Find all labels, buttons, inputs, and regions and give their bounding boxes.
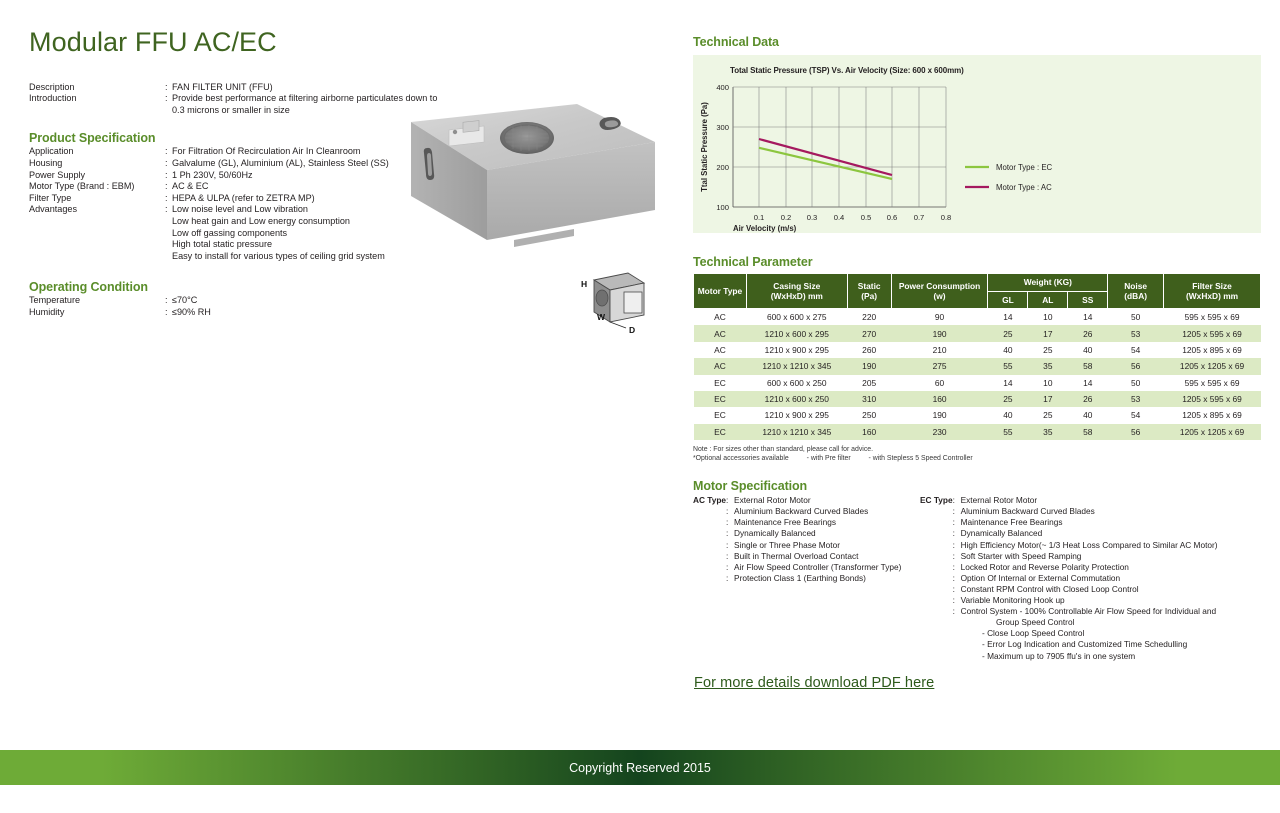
cell-casing: 600 x 600 x 250 [746,375,847,391]
mcolon: : [726,506,734,517]
ec-item: Constant RPM Control with Closed Loop Co… [961,584,1261,595]
cell-power: 190 [891,407,988,423]
th-static: Static (Pa) [847,274,891,309]
motor-spec-row: EC Type : Dynamically Balanced [920,528,1261,539]
cell-motor: EC [694,375,747,391]
cell-al: 25 [1028,342,1068,358]
spec-value: Low noise level and Low vibration [172,204,389,216]
spec-label: Application [29,146,165,158]
spec-colon: : [165,204,172,216]
cell-filter: 1205 x 895 x 69 [1164,407,1261,423]
ac-item: Protection Class 1 (Earthing Bonds) [734,573,933,584]
cell-motor: AC [694,342,747,358]
spec-label-empty [29,239,165,251]
cell-static: 205 [847,375,891,391]
cell-filter: 595 x 595 x 69 [1164,375,1261,391]
cell-gl: 55 [988,358,1028,374]
spec-colon: : [165,158,172,170]
cell-power: 160 [891,391,988,407]
motor-spec-row: AC Type : Dynamically Balanced [693,528,933,539]
cell-al: 10 [1028,309,1068,326]
chart-y-axis-label: Ttal Static Pressure (Pa) [700,102,709,192]
mcolon: : [726,551,734,562]
right-column: Technical Data Total Static Pressure (TS… [693,35,1261,670]
motor-specification-heading: Motor Specification [693,479,1261,493]
mcolon: : [953,573,961,584]
spec-label-empty [29,216,165,228]
spec-row: Application : For Filtration Of Recircul… [29,146,389,158]
chart-gridlines [733,87,946,207]
dimension-diagram: H W D [576,270,658,336]
cell-noise: 54 [1108,342,1164,358]
motor-spec-row: EC Type : Aluminium Backward Curved Blad… [920,506,1261,517]
spec-row: Power Supply : 1 Ph 230V, 50/60Hz [29,170,389,182]
ec-item: High Efficiency Motor(~ 1/3 Heat Loss Co… [961,540,1261,551]
spec-row: Advantages : Low noise level and Low vib… [29,204,389,216]
spec-colon-empty [165,105,172,117]
motor-spec-row: AC Type : Single or Three Phase Motor [693,540,933,551]
motor-spec-subrow: - Error Log Indication and Customized Ti… [920,639,1261,650]
table-row: AC 600 x 600 x 275 220 90 14 10 14 50 59… [694,309,1261,326]
th-static-line2: (Pa) [861,291,877,301]
cell-casing: 600 x 600 x 275 [746,309,847,326]
series-line-ec [759,148,892,179]
ec-item: Locked Rotor and Reverse Polarity Protec… [961,562,1261,573]
spec-colon: : [165,307,172,319]
cell-power: 60 [891,375,988,391]
spec-value: 1 Ph 230V, 50/60Hz [172,170,389,182]
svg-text:400: 400 [716,83,729,92]
spec-row: Housing : Galvalume (GL), Aluminium (AL)… [29,158,389,170]
spec-colon: : [165,146,172,158]
svg-text:0.7: 0.7 [914,213,925,222]
motor-spec-ec-column: EC Type : External Rotor Motor EC Type :… [920,495,1261,661]
mcolon: : [953,551,961,562]
cell-static: 190 [847,358,891,374]
table-row: EC 1210 x 600 x 250 310 160 25 17 26 53 … [694,391,1261,407]
mcolon: : [726,573,734,584]
ec-sub-item: Group Speed Control [920,617,1261,628]
note-line-1: Note : For sizes other than standard, pl… [693,446,1261,455]
spec-value: FAN FILTER UNIT (FFU) [172,82,437,94]
table-header: Motor Type Casing Size (WxHxD) mm Static… [694,274,1261,309]
cell-al: 17 [1028,325,1068,341]
motor-spec-subrow: - Maximum up to 7905 ffu's in one system [920,651,1261,662]
product-specification-rows: Application : For Filtration Of Recircul… [29,146,389,262]
spec-value-cont: 0.3 microns or smaller in size [172,105,437,117]
chart-legend: Motor Type : EC Motor Type : AC [965,163,1053,192]
technical-parameter-heading: Technical Parameter [693,255,1261,269]
copyright-text: Copyright Reserved 2015 [569,761,711,775]
motor-spec-row: AC Type : Maintenance Free Bearings [693,517,933,528]
motor-spec-row: EC Type : High Efficiency Motor(~ 1/3 He… [920,540,1261,551]
cell-power: 275 [891,358,988,374]
motor-spec-row: EC Type : Maintenance Free Bearings [920,517,1261,528]
svg-text:0.6: 0.6 [887,213,898,222]
cell-casing: 1210 x 1210 x 345 [746,424,847,440]
cell-power: 210 [891,342,988,358]
cell-gl: 40 [988,342,1028,358]
th-casing-size-line2: (WxHxD) mm [771,291,823,301]
cell-filter: 595 x 595 x 69 [1164,309,1261,326]
ec-item: Soft Starter with Speed Ramping [961,551,1261,562]
spec-label: Housing [29,158,165,170]
cell-gl: 14 [988,375,1028,391]
footer-bar: Copyright Reserved 2015 [0,750,1280,785]
datasheet-page: Modular FFU AC/EC Description : FAN FILT… [0,0,1280,813]
cell-static: 160 [847,424,891,440]
cell-casing: 1210 x 900 x 295 [746,342,847,358]
motor-spec-subrow: - Close Loop Speed Control [920,628,1261,639]
cell-ss: 58 [1068,424,1108,440]
cell-al: 17 [1028,391,1068,407]
cell-filter: 1205 x 595 x 69 [1164,325,1261,341]
spec-row: High total static pressure [29,239,389,251]
cell-noise: 53 [1108,391,1164,407]
cell-al: 10 [1028,375,1068,391]
cell-filter: 1205 x 1205 x 69 [1164,358,1261,374]
th-noise-line2: (dBA) [1124,291,1147,301]
cell-static: 310 [847,391,891,407]
cell-static: 270 [847,325,891,341]
spec-value-cont: Low heat gain and Low energy consumption [172,216,389,228]
cell-filter: 1205 x 1205 x 69 [1164,424,1261,440]
note-pre-filter: - with Pre filter [807,455,851,462]
spec-colon: : [165,82,172,94]
spec-colon-empty [165,216,172,228]
th-filter-line2: (WxHxD) mm [1186,291,1238,301]
operating-condition-block: Operating Condition Temperature : ≤70°C … [29,280,669,318]
th-static-line1: Static [858,281,881,291]
ac-item: Single or Three Phase Motor [734,540,933,551]
motor-spec-row: EC Type : Constant RPM Control with Clos… [920,584,1261,595]
ec-sub-item: - Close Loop Speed Control [920,628,1261,639]
cell-ss: 14 [1068,375,1108,391]
th-casing-size-line1: Casing Size [773,281,820,291]
motor-spec-subrow: Group Speed Control [920,617,1261,628]
motor-spec-row: EC Type : Locked Rotor and Reverse Polar… [920,562,1261,573]
svg-text:0.8: 0.8 [941,213,952,222]
cell-noise: 56 [1108,424,1164,440]
cell-casing: 1210 x 900 x 295 [746,407,847,423]
cell-static: 220 [847,309,891,326]
cell-gl: 55 [988,424,1028,440]
table-row: EC 1210 x 1210 x 345 160 230 55 35 58 56… [694,424,1261,440]
mcolon: : [953,495,961,506]
cell-power: 90 [891,309,988,326]
motor-spec-row: AC Type : Air Flow Speed Controller (Tra… [693,562,933,573]
spec-value: AC & EC [172,181,389,193]
cell-al: 35 [1028,424,1068,440]
dim-label-d: D [629,325,635,335]
th-weight-al: AL [1028,291,1068,309]
mcolon: : [953,528,961,539]
th-power-line2: (w) [934,291,946,301]
dim-label-w: W [597,312,606,322]
ac-item: Maintenance Free Bearings [734,517,933,528]
table-row: EC 1210 x 900 x 295 250 190 40 25 40 54 … [694,407,1261,423]
mcolon: : [726,540,734,551]
svg-text:0.4: 0.4 [834,213,845,222]
operating-condition-rows: Temperature : ≤70°C Humidity : ≤90% RH [29,295,211,318]
spec-colon-empty [165,228,172,240]
spec-row: Low off gassing components [29,228,389,240]
technical-data-panel: Total Static Pressure (TSP) Vs. Air Velo… [693,55,1261,233]
cell-ss: 26 [1068,391,1108,407]
mcolon: : [726,528,734,539]
spec-value-cont: Easy to install for various types of cei… [172,251,389,263]
technical-data-heading: Technical Data [693,35,1261,49]
spec-value-cont: High total static pressure [172,239,389,251]
cell-ss: 40 [1068,342,1108,358]
cell-al: 25 [1028,407,1068,423]
note-line-2: *Optional accessories available - with P… [693,455,1261,464]
spec-colon-empty [165,251,172,263]
cell-casing: 1210 x 1210 x 345 [746,358,847,374]
table-header-row-1: Motor Type Casing Size (WxHxD) mm Static… [694,274,1261,292]
spec-label-empty [29,228,165,240]
th-filter-line1: Filter Size [1192,281,1232,291]
description-table: Description : FAN FILTER UNIT (FFU) Intr… [29,82,437,117]
spec-value: ≤90% RH [172,307,211,319]
cell-motor: EC [694,407,747,423]
th-weight-ss: SS [1068,291,1108,309]
cell-ss: 40 [1068,407,1108,423]
mcolon: : [726,495,734,506]
ec-sub-item: - Maximum up to 7905 ffu's in one system [920,651,1261,662]
spec-value: For Filtration Of Recirculation Air In C… [172,146,389,158]
ec-type-label: EC Type [920,495,953,506]
cell-al: 35 [1028,358,1068,374]
table-row: AC 1210 x 1210 x 345 190 275 55 35 58 56… [694,358,1261,374]
spec-label: Introduction [29,93,165,105]
ac-item: Aluminium Backward Curved Blades [734,506,933,517]
spec-label-empty [29,105,165,117]
spec-label-empty [29,251,165,263]
motor-spec-row: EC Type : External Rotor Motor [920,495,1261,506]
cell-noise: 56 [1108,358,1164,374]
cell-ss: 26 [1068,325,1108,341]
page-title: Modular FFU AC/EC [29,28,669,58]
spec-label: Motor Type (Brand : EBM) [29,181,165,193]
cell-casing: 1210 x 600 x 250 [746,391,847,407]
ac-item: Dynamically Balanced [734,528,933,539]
th-power-consumption: Power Consumption (w) [891,274,988,309]
svg-text:200: 200 [716,163,729,172]
ec-item: Variable Monitoring Hook up [961,595,1261,606]
motor-spec-row: AC Type : Aluminium Backward Curved Blad… [693,506,933,517]
product-photo [399,100,667,260]
ec-item: Dynamically Balanced [961,528,1261,539]
table-body: AC 600 x 600 x 275 220 90 14 10 14 50 59… [694,309,1261,441]
spec-row: Low heat gain and Low energy consumption [29,216,389,228]
svg-text:0.3: 0.3 [807,213,818,222]
cell-ss: 58 [1068,358,1108,374]
cell-noise: 53 [1108,325,1164,341]
spec-colon-empty [165,239,172,251]
th-weight-gl: GL [988,291,1028,309]
mcolon: : [953,562,961,573]
mcolon: : [953,540,961,551]
spec-label: Description [29,82,165,94]
spec-colon: : [165,181,172,193]
motor-specification-columns: AC Type : External Rotor Motor AC Type :… [693,495,1261,670]
motor-spec-row: AC Type : Built in Thermal Overload Cont… [693,551,933,562]
spec-row: Easy to install for various types of cei… [29,251,389,263]
tsp-vs-air-velocity-chart: 400 300 200 100 0.1 0.2 0.3 0.4 0.5 0.6 … [693,55,1261,233]
legend-label-ec: Motor Type : EC [996,163,1053,172]
cell-motor: EC [694,391,747,407]
motor-spec-row: AC Type : External Rotor Motor [693,495,933,506]
ec-item: External Rotor Motor [961,495,1261,506]
cell-gl: 25 [988,391,1028,407]
spec-value: ≤70°C [172,295,211,307]
table-row: EC 600 x 600 x 250 205 60 14 10 14 50 59… [694,375,1261,391]
cell-gl: 14 [988,309,1028,326]
table-row: AC 1210 x 900 x 295 260 210 40 25 40 54 … [694,342,1261,358]
chart-x-axis-label: Air Velocity (m/s) [733,224,797,233]
spec-colon: : [165,193,172,205]
product-specification-table: Application : For Filtration Of Recircul… [29,146,389,262]
spec-value: HEPA & ULPA (refer to ZETRA MP) [172,193,389,205]
th-noise: Noise (dBA) [1108,274,1164,309]
spec-value-cont: Low off gassing components [172,228,389,240]
th-motor-type: Motor Type [694,274,747,309]
chart-y-ticks: 400 300 200 100 [716,83,729,212]
ac-type-label: AC Type [693,495,726,506]
th-casing-size: Casing Size (WxHxD) mm [746,274,847,309]
series-line-ac [759,139,892,175]
cell-power: 230 [891,424,988,440]
mcolon: : [953,517,961,528]
spec-row: Filter Type : HEPA & ULPA (refer to ZETR… [29,193,389,205]
spec-label: Advantages [29,204,165,216]
th-filter-size: Filter Size (WxHxD) mm [1164,274,1261,309]
svg-text:100: 100 [716,203,729,212]
cell-power: 190 [891,325,988,341]
mcolon: : [953,584,961,595]
mcolon: : [953,606,961,617]
motor-spec-row: EC Type : Variable Monitoring Hook up [920,595,1261,606]
chart-x-ticks: 0.1 0.2 0.3 0.4 0.5 0.6 0.7 0.8 [754,213,952,222]
spec-row: Motor Type (Brand : EBM) : AC & EC [29,181,389,193]
cell-ss: 14 [1068,309,1108,326]
cell-static: 250 [847,407,891,423]
mcolon: : [953,595,961,606]
ec-item: Control System - 100% Controllable Air F… [961,606,1261,617]
cell-motor: AC [694,358,747,374]
spec-row: Humidity : ≤90% RH [29,307,211,319]
spec-colon: : [165,170,172,182]
ec-item: Aluminium Backward Curved Blades [961,506,1261,517]
th-weight: Weight (KG) [988,274,1108,292]
spec-value: Galvalume (GL), Aluminium (AL), Stainles… [172,158,389,170]
spec-row: Description : FAN FILTER UNIT (FFU) [29,82,437,94]
mcolon: : [726,562,734,573]
th-power-line1: Power Consumption [899,281,980,291]
spec-label: Filter Type [29,193,165,205]
spec-value: Provide best performance at filtering ai… [172,93,437,105]
cell-filter: 1205 x 595 x 69 [1164,391,1261,407]
cell-gl: 25 [988,325,1028,341]
motor-spec-row: EC Type : Control System - 100% Controll… [920,606,1261,617]
svg-text:0.2: 0.2 [781,213,792,222]
cell-noise: 54 [1108,407,1164,423]
table-note: Note : For sizes other than standard, pl… [693,446,1261,463]
cell-filter: 1205 x 895 x 69 [1164,342,1261,358]
cell-static: 260 [847,342,891,358]
mcolon: : [953,506,961,517]
spec-label: Humidity [29,307,165,319]
spec-colon: : [165,93,172,105]
th-noise-line1: Noise [1124,281,1147,291]
download-pdf-link[interactable]: For more details download PDF here [694,675,934,691]
motor-spec-row: EC Type : Soft Starter with Speed Rampin… [920,551,1261,562]
spec-row: Temperature : ≤70°C [29,295,211,307]
cell-gl: 40 [988,407,1028,423]
cell-casing: 1210 x 600 x 295 [746,325,847,341]
ac-item: External Rotor Motor [734,495,933,506]
spec-colon: : [165,295,172,307]
svg-text:300: 300 [716,123,729,132]
note-speed-controller: - with Stepless 5 Speed Controller [869,455,973,462]
operating-condition-heading: Operating Condition [29,280,669,294]
operating-condition-table: Temperature : ≤70°C Humidity : ≤90% RH [29,295,211,318]
note-optional-accessories: *Optional accessories available [693,455,789,462]
spec-label: Power Supply [29,170,165,182]
description-rows: Description : FAN FILTER UNIT (FFU) Intr… [29,82,437,117]
spec-row: Introduction : Provide best performance … [29,93,437,105]
motor-spec-row: EC Type : Option Of Internal or External… [920,573,1261,584]
technical-parameter-table: Motor Type Casing Size (WxHxD) mm Static… [693,273,1261,440]
motor-spec-ac-column: AC Type : External Rotor Motor AC Type :… [693,495,933,584]
cell-motor: EC [694,424,747,440]
mcolon: : [726,517,734,528]
ec-item: Maintenance Free Bearings [961,517,1261,528]
legend-label-ac: Motor Type : AC [996,183,1052,192]
spec-label: Temperature [29,295,165,307]
motor-spec-row: AC Type : Protection Class 1 (Earthing B… [693,573,933,584]
ec-sub-item: - Error Log Indication and Customized Ti… [920,639,1261,650]
ac-item: Built in Thermal Overload Contact [734,551,933,562]
svg-text:0.5: 0.5 [861,213,872,222]
cell-noise: 50 [1108,309,1164,326]
cell-motor: AC [694,309,747,326]
table-row: AC 1210 x 600 x 295 270 190 25 17 26 53 … [694,325,1261,341]
dim-label-h: H [581,279,587,289]
ec-item: Option Of Internal or External Commutati… [961,573,1261,584]
cell-motor: AC [694,325,747,341]
cell-noise: 50 [1108,375,1164,391]
spec-row: 0.3 microns or smaller in size [29,105,437,117]
svg-text:0.1: 0.1 [754,213,765,222]
ac-item: Air Flow Speed Controller (Transformer T… [734,562,933,573]
